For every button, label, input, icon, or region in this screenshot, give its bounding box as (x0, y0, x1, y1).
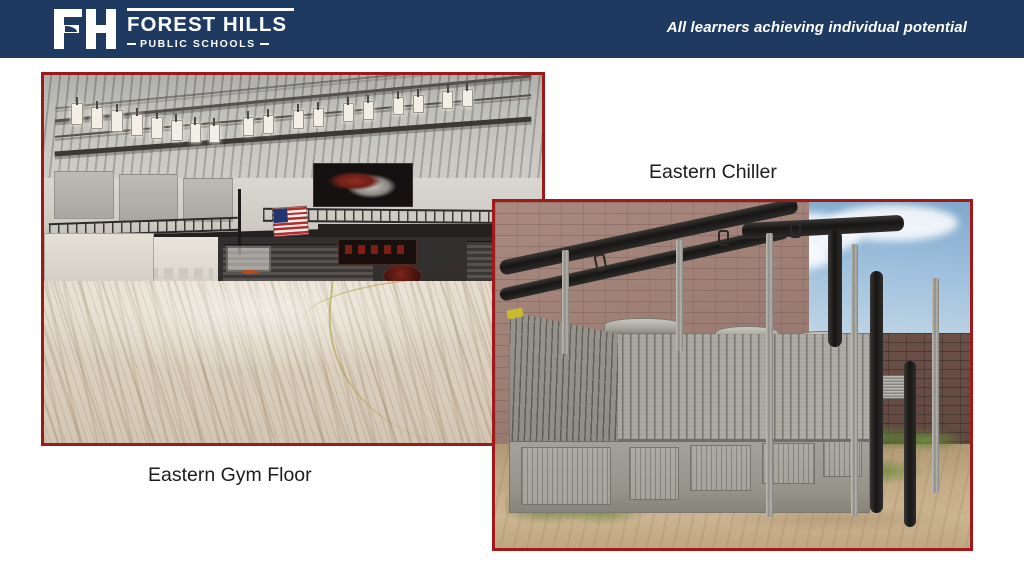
chiller-access-panel (690, 445, 751, 491)
district-tagline: All learners achieving individual potent… (667, 19, 967, 36)
gym-light-fixture (209, 124, 220, 143)
logo-divider-rule (127, 8, 294, 11)
gym-light-fixture (293, 110, 304, 129)
gym-light-fixture (413, 95, 424, 113)
chiller-access-panel (629, 447, 679, 500)
basketball-rim-icon (241, 270, 259, 274)
chiller-fan-cowling (604, 318, 683, 334)
caption-eastern-chiller: Eastern Chiller (649, 161, 777, 184)
gym-light-fixture (393, 97, 404, 115)
logo-wordmark: FOREST HILLS PUBLIC SCHOOLS (127, 7, 294, 50)
insulated-drop-pipe (904, 361, 916, 527)
pipe-support-post (676, 240, 683, 351)
logo-subtitle: PUBLIC SCHOOLS (140, 38, 256, 50)
mascot-hawk-icon (328, 169, 398, 199)
pipe-support-post (766, 233, 773, 517)
chiller-access-panel (521, 447, 611, 506)
wall-acoustic-panel (119, 174, 179, 222)
insulated-riser-pipe (870, 271, 883, 513)
gym-light-fixture (442, 91, 453, 109)
gym-light-fixture (111, 110, 123, 132)
site-header: FOREST HILLS PUBLIC SCHOOLS All learners… (0, 0, 1024, 58)
gym-light-fixture (190, 123, 201, 143)
photo-gym-floor (41, 72, 545, 446)
fh-monogram-icon (52, 7, 118, 51)
logo-dash-left (127, 43, 136, 45)
basketball-backboard (226, 246, 271, 272)
gym-light-fixture (363, 101, 374, 120)
gym-light-fixture (91, 107, 103, 129)
gym-light-fixture (343, 103, 354, 122)
pipe-support-strap (790, 223, 801, 238)
logo-subtitle-row: PUBLIC SCHOOLS (127, 38, 294, 50)
gym-photo-content (44, 75, 542, 443)
gym-light-fixture (462, 89, 473, 107)
forest-hills-logo[interactable]: FOREST HILLS PUBLIC SCHOOLS (52, 7, 294, 51)
wall-acoustic-panel (54, 171, 114, 219)
logo-district-name: FOREST HILLS (127, 14, 294, 35)
logo-dash-right (260, 43, 269, 45)
insulated-riser-pipe (828, 230, 842, 348)
pipe-support-post (562, 250, 569, 354)
caption-gym-floor: Eastern Gym Floor (148, 464, 312, 487)
gym-wood-floor (44, 281, 542, 443)
american-flag (272, 206, 309, 238)
mascot-banner (313, 163, 413, 207)
pipe-support-strap (718, 230, 729, 246)
gym-light-fixture (131, 114, 143, 136)
photo-eastern-chiller (492, 199, 973, 551)
scoreboard (338, 239, 418, 265)
pipe-support-post (932, 278, 939, 493)
gym-light-fixture (263, 115, 274, 134)
gym-light-fixture (71, 103, 83, 125)
pipe-support-post (851, 244, 858, 517)
chiller-photo-content (495, 202, 970, 548)
gym-light-fixture (151, 117, 163, 139)
gym-light-fixture (313, 108, 324, 127)
gym-light-fixture (243, 117, 254, 136)
gym-light-fixture (171, 120, 183, 141)
air-cooled-chiller-unit (509, 333, 870, 513)
wall-acoustic-panel (183, 178, 233, 222)
